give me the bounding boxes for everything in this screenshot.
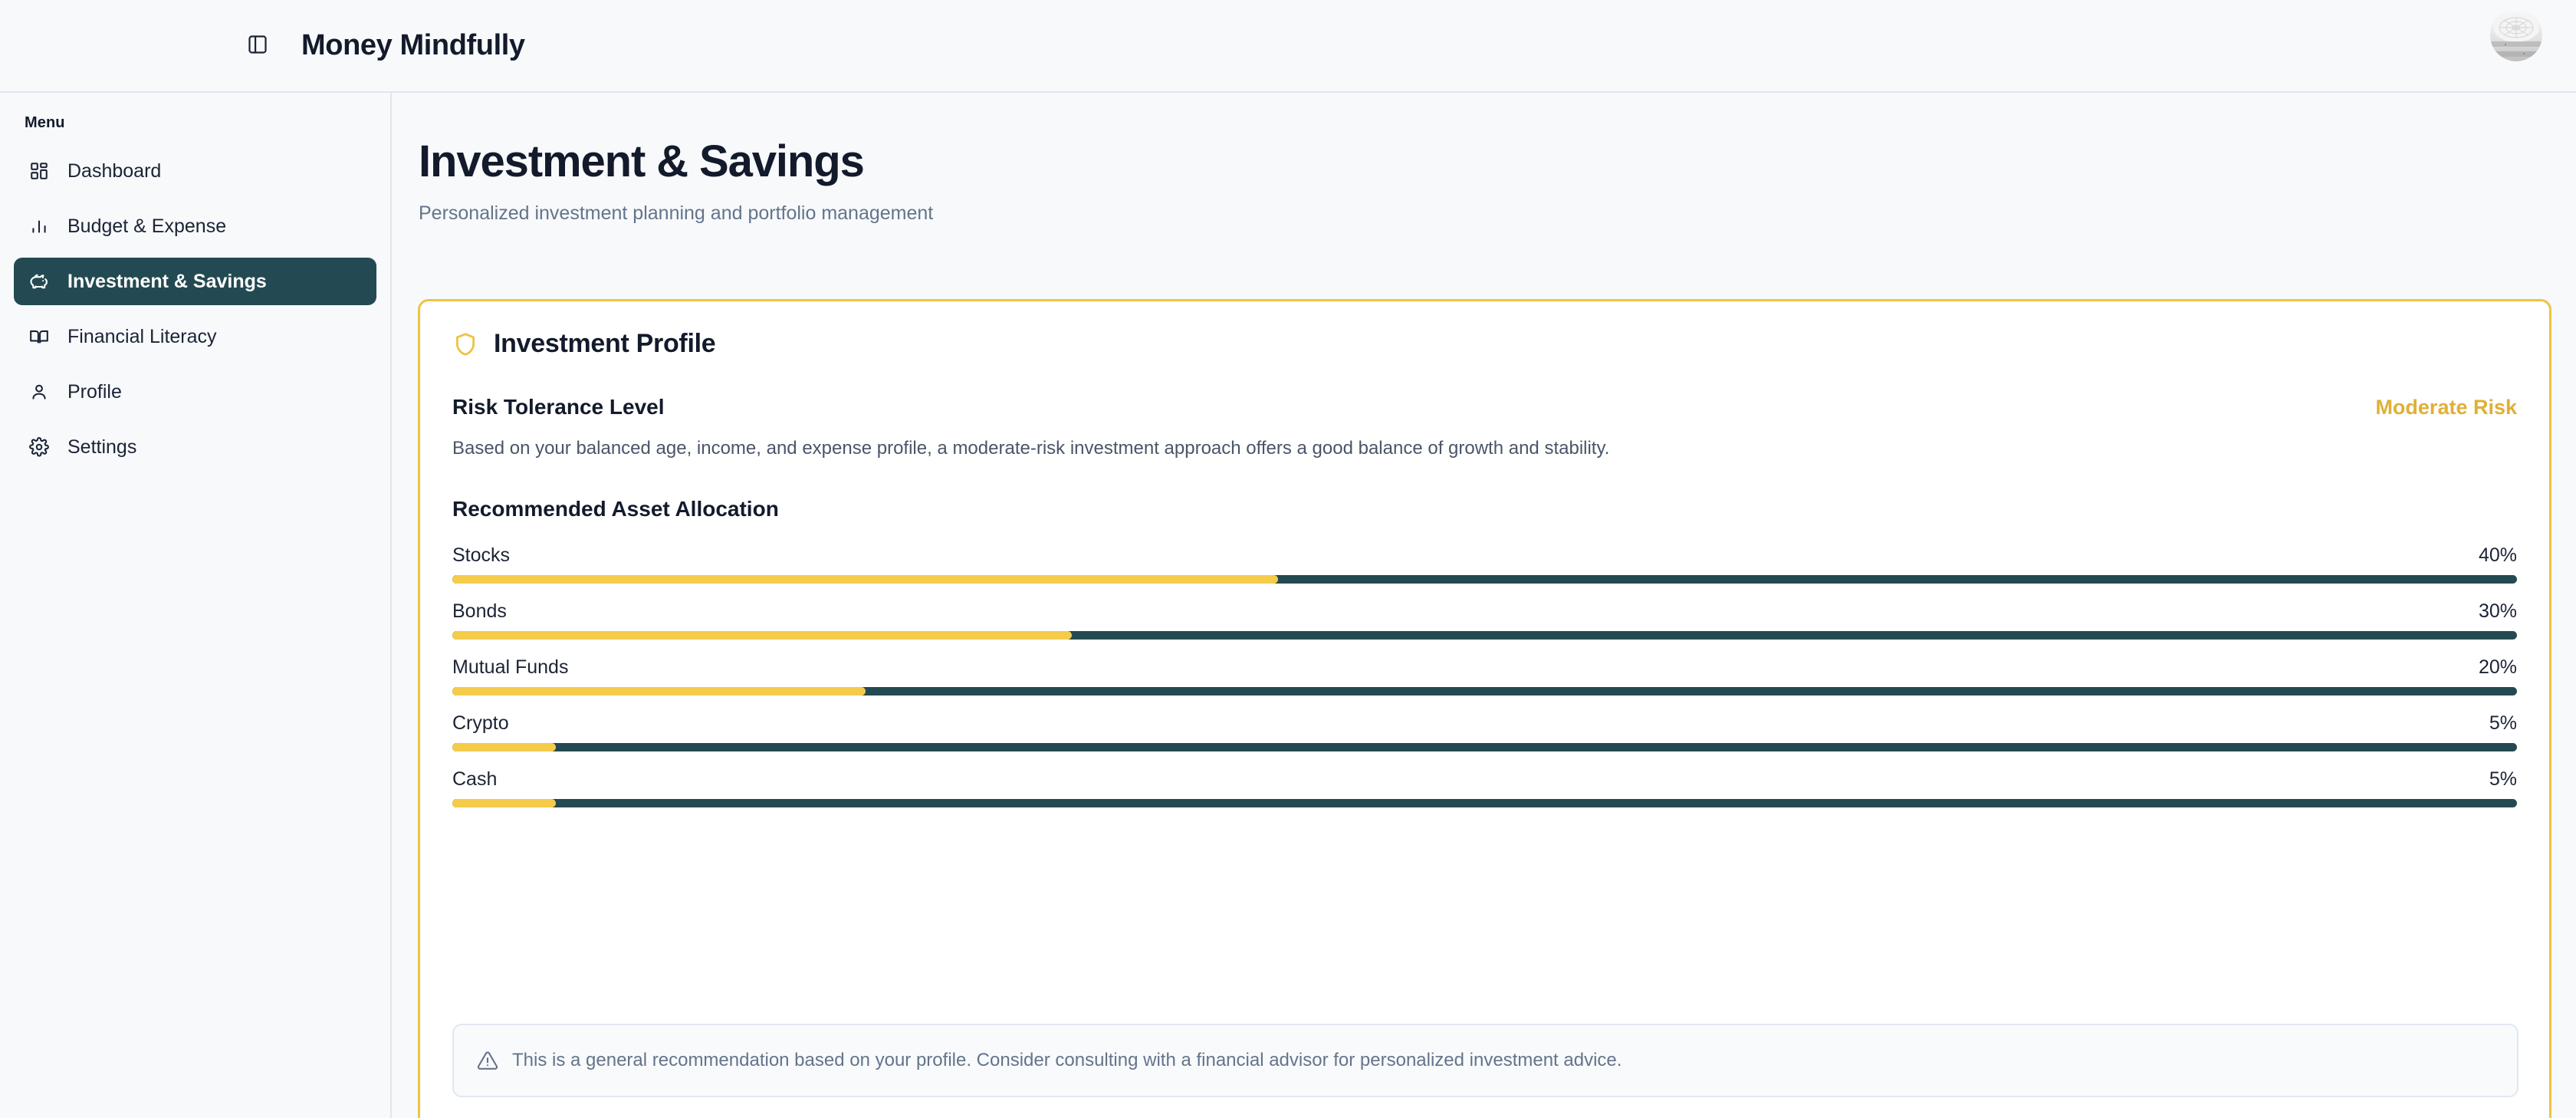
risk-description: Based on your balanced age, income, and … (420, 419, 2549, 460)
avatar[interactable] (2490, 9, 2542, 61)
sidebar-item-investment-savings[interactable]: Investment & Savings (14, 258, 376, 305)
allocation-item-bonds: Bonds 30% (452, 600, 2517, 640)
sidebar-item-label: Financial Literacy (67, 326, 217, 348)
sidebar-item-financial-literacy[interactable]: Financial Literacy (14, 313, 376, 360)
allocation-percent: 5% (2489, 768, 2517, 791)
sidebar-item-dashboard[interactable]: Dashboard (14, 147, 376, 195)
allocation-progress-fill (452, 743, 556, 751)
sidebar-nav-list: Dashboard Budget & Expense Investmen (0, 147, 390, 471)
allocation-percent: 40% (2479, 544, 2517, 567)
allocation-progress-fill (452, 575, 1278, 584)
risk-tolerance-heading: Risk Tolerance Level (452, 395, 665, 419)
allocation-progress-track (452, 631, 2517, 640)
allocation-label: Stocks (452, 544, 510, 567)
sidebar-item-label: Settings (67, 436, 136, 459)
allocation-progress-fill (452, 799, 556, 807)
allocation-progress-track (452, 575, 2517, 584)
sidebar-item-label: Budget & Expense (67, 215, 226, 238)
allocation-label: Bonds (452, 600, 507, 623)
shield-icon (452, 331, 478, 357)
sidebar-item-profile[interactable]: Profile (14, 368, 376, 416)
allocation-item-cash: Cash 5% (452, 768, 2517, 807)
card-header: Investment Profile (420, 301, 2549, 359)
allocation-percent: 20% (2479, 656, 2517, 679)
allocation-label: Crypto (452, 712, 509, 735)
sidebar: Menu Dashboard Budget & Ex (0, 93, 392, 1118)
page-title: Investment & Savings (419, 136, 2576, 187)
allocation-progress-track (452, 687, 2517, 695)
layout-grid-icon (28, 159, 51, 182)
bar-chart-icon (28, 215, 51, 238)
sidebar-toggle-button[interactable] (242, 30, 274, 62)
gear-icon (28, 436, 51, 459)
risk-level-badge: Moderate Risk (2375, 396, 2517, 419)
sidebar-item-budget-expense[interactable]: Budget & Expense (14, 202, 376, 250)
allocation-item-crypto: Crypto 5% (452, 712, 2517, 751)
user-icon (28, 380, 51, 403)
panel-left-icon (247, 34, 268, 58)
allocation-item-mutual-funds: Mutual Funds 20% (452, 656, 2517, 695)
piggy-bank-icon (28, 270, 51, 293)
sidebar-item-settings[interactable]: Settings (14, 423, 376, 471)
allocation-item-stocks: Stocks 40% (452, 544, 2517, 584)
allocation-progress-track (452, 799, 2517, 807)
allocation-progress-fill (452, 631, 1072, 640)
disclaimer-banner: This is a general recommendation based o… (452, 1024, 2518, 1097)
asset-allocation-list: Stocks 40% Bonds 30% Mutual Funds (420, 521, 2549, 807)
allocation-percent: 5% (2489, 712, 2517, 735)
allocation-label: Mutual Funds (452, 656, 568, 679)
sidebar-item-label: Dashboard (67, 160, 161, 182)
allocation-progress-track (452, 743, 2517, 751)
avatar-image (2490, 9, 2542, 61)
allocation-progress-fill (452, 687, 866, 695)
page-subtitle: Personalized investment planning and por… (419, 202, 2576, 225)
app-header: Money Mindfully (0, 0, 2576, 93)
card-title: Investment Profile (494, 329, 715, 359)
sidebar-item-label: Investment & Savings (67, 271, 267, 293)
allocation-label: Cash (452, 768, 497, 791)
warning-triangle-icon (477, 1050, 498, 1071)
sidebar-section-label: Menu (25, 114, 390, 132)
asset-allocation-heading: Recommended Asset Allocation (420, 460, 2549, 521)
app-brand-title: Money Mindfully (301, 29, 525, 62)
risk-tolerance-row: Risk Tolerance Level Moderate Risk (420, 359, 2549, 419)
main-content: Investment & Savings Personalized invest… (393, 93, 2576, 1118)
allocation-percent: 30% (2479, 600, 2517, 623)
disclaimer-text: This is a general recommendation based o… (512, 1050, 1621, 1071)
investment-profile-card: Investment Profile Risk Tolerance Level … (418, 299, 2551, 1118)
sidebar-item-label: Profile (67, 381, 122, 403)
book-open-icon (28, 325, 51, 348)
